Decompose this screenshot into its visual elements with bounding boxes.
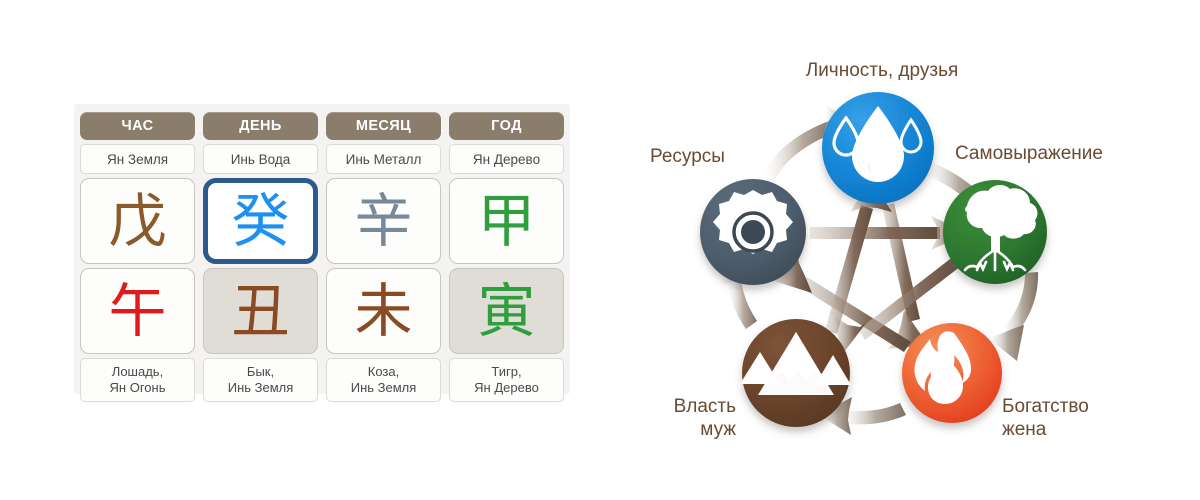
node-label-wood: Самовыражение — [955, 143, 1103, 166]
stem-glyph-year[interactable]: 甲 — [449, 178, 564, 264]
pillar-header-day[interactable]: ДЕНЬ — [203, 112, 318, 140]
stem-label-month: Инь Металл — [326, 144, 441, 174]
bazi-grid: ЧАС ДЕНЬ МЕСЯЦ ГОД Ян Земля Инь Вода Инь… — [80, 112, 564, 386]
bazi-chart-panel: ЧАС ДЕНЬ МЕСЯЦ ГОД Ян Земля Инь Вода Инь… — [74, 104, 570, 394]
pillar-header-year[interactable]: ГОД — [449, 112, 564, 140]
stem-glyph-month[interactable]: 辛 — [326, 178, 441, 264]
node-label-metal: Ресурсы — [650, 146, 725, 169]
stem-glyph-hour[interactable]: 戊 — [80, 178, 195, 264]
branch-glyph-month[interactable]: 未 — [326, 268, 441, 354]
node-label-fire: Богатство жена — [1002, 396, 1089, 442]
stem-label-year: Ян Дерево — [449, 144, 564, 174]
animal-label-year: Тигр, Ян Дерево — [449, 358, 564, 402]
branch-glyph-day[interactable]: 丑 — [203, 268, 318, 354]
pillar-header-hour[interactable]: ЧАС — [80, 112, 195, 140]
node-label-water: Личность, друзья — [792, 60, 972, 83]
screenshot-root: ЧАС ДЕНЬ МЕСЯЦ ГОД Ян Земля Инь Вода Инь… — [0, 0, 1200, 500]
stem-label-day: Инь Вода — [203, 144, 318, 174]
branch-glyph-year[interactable]: 寅 — [449, 268, 564, 354]
animal-label-month: Коза, Инь Земля — [326, 358, 441, 402]
pillar-header-month[interactable]: МЕСЯЦ — [326, 112, 441, 140]
node-label-earth: Власть муж — [622, 396, 736, 442]
animal-label-day: Бык, Инь Земля — [203, 358, 318, 402]
stem-label-hour: Ян Земля — [80, 144, 195, 174]
arrow-water-to-fire — [882, 203, 928, 349]
arrow-wood-to-fire — [988, 272, 1038, 361]
five-element-cycle-diagram: Личность, друзья Самовыражение Богатство… — [620, 0, 1200, 500]
branch-glyph-hour[interactable]: 午 — [80, 268, 195, 354]
stem-glyph-day[interactable]: 癸 — [203, 178, 318, 264]
animal-label-hour: Лошадь, Ян Огонь — [80, 358, 195, 402]
